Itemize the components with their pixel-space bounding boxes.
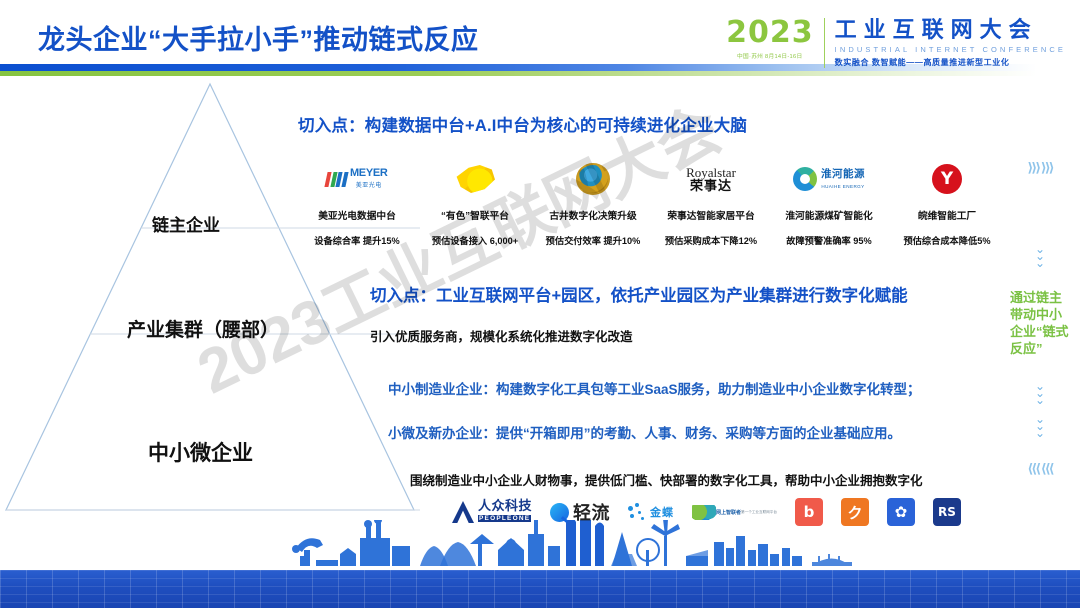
- huaihe-logo: 淮河能源HUAIHE ENERGY: [770, 158, 888, 200]
- company-cell-wanwei: 皖维智能工厂 预估综合成本降低5%: [888, 158, 1006, 247]
- company-cell-royalstar: Royalstar荣事达 荣事达智能家居平台 预估采购成本下降12%: [652, 158, 770, 247]
- skyline-graphic: [0, 520, 1080, 574]
- conference-tagline: 数实融合 数智赋能——高质量推进新型工业化: [835, 57, 1066, 68]
- peopleone-name-cn: 人众科技: [478, 498, 532, 513]
- kingdee-mark-icon: [628, 503, 646, 521]
- tier2-headline: 切入点：工业互联网平台+园区，依托产业园区为产业集群进行数字化赋能: [370, 282, 908, 306]
- company-cell-huaihe: 淮河能源HUAIHE ENERGY 淮河能源煤矿智能化 故障预警准确率 95%: [770, 158, 888, 247]
- company-kpi: 设备综合率 提升15%: [300, 233, 414, 247]
- chevron-down-icon-group-3: ⌄⌄⌄: [1006, 416, 1074, 437]
- right-note-text: 通过链主带动中小企业“链式反应”: [1006, 289, 1074, 357]
- meyer-logo: MEYER美亚光电: [298, 158, 416, 200]
- company-name: “有色”智联平台: [418, 207, 532, 222]
- qingliu-mark-icon: [550, 503, 569, 522]
- conference-date: 中国·苏州 8月14日-16日: [728, 51, 811, 60]
- conference-year-block: 2023 中国·苏州 8月14日-16日: [726, 18, 824, 60]
- peopleone-mark-icon: [452, 501, 474, 523]
- conference-name-cn: 工业互联网大会: [835, 18, 1066, 42]
- company-kpi: 预估综合成本降低5%: [890, 233, 1004, 247]
- wangshang-logo: 网上智联者 第一个工业互联网平台: [692, 505, 777, 520]
- company-cell-meyer: MEYER美亚光电 美亚光电数据中台 设备综合率 提升15%: [298, 158, 416, 247]
- conference-name-en: INDUSTRIAL INTERNET CONFERENCE: [835, 45, 1066, 54]
- company-kpi: 预估采购成本下降12%: [654, 233, 768, 247]
- chevron-down-icon-group-1: ⌄⌄⌄: [1006, 246, 1074, 267]
- company-cell-gujing: 古井数字化决策升级 预估交付效率 提升10%: [534, 158, 652, 247]
- tier2-subtext: 引入优质服务商，规模化系统化推进数字化改造: [370, 326, 908, 345]
- conference-logo: 2023 中国·苏州 8月14日-16日 工业互联网大会 INDUSTRIAL …: [726, 18, 1066, 68]
- square-navy-logo: RS: [933, 498, 961, 526]
- gujing-logo: [534, 158, 652, 200]
- company-cell-youse: “有色”智联平台 预估设备接入 6,000+: [416, 158, 534, 247]
- partner-logo-strip: 人众科技 PEOPLEONE 轻流 金蝶 网上智联者 第一个工业互联网平台 b …: [452, 498, 961, 526]
- peopleone-name-en: PEOPLEONE: [478, 515, 531, 522]
- square-blue-logo: ✿: [887, 498, 915, 526]
- tier1-company-row: MEYER美亚光电 美亚光电数据中台 设备综合率 提升15% “有色”智联平台 …: [298, 158, 1010, 247]
- conference-name-block: 工业互联网大会 INDUSTRIAL INTERNET CONFERENCE 数…: [835, 18, 1066, 68]
- company-kpi: 预估交付效率 提升10%: [536, 233, 650, 247]
- qingliu-name-cn: 轻流: [573, 499, 610, 525]
- tier3-footnote: 围绕制造业中小企业人财物事，提供低门槛、快部署的数字化工具，帮助中小企业拥抱数字…: [410, 470, 923, 489]
- tier3-line-manufacturing: 中小制造业企业：构建数字化工具包等工业SaaS服务，助力制造业中小企业数字化转型…: [388, 378, 923, 398]
- right-arrows-bottom: ⟨⟨⟨ ⟨⟨⟨: [1006, 461, 1074, 477]
- right-arrows-top: ⟩⟩⟩ ⟩⟩⟩: [1006, 160, 1074, 176]
- tier3-section: 中小制造业企业：构建数字化工具包等工业SaaS服务，助力制造业中小企业数字化转型…: [388, 378, 923, 489]
- royalstar-logo: Royalstar荣事达: [652, 158, 770, 200]
- footer-grid-overlay: [0, 570, 1080, 608]
- square-red-logo: b: [795, 498, 823, 526]
- chevron-down-icon-group-2: ⌄⌄⌄: [1006, 383, 1074, 404]
- company-name: 荣事达智能家居平台: [654, 207, 768, 222]
- square-orange-logo: ク: [841, 498, 869, 526]
- company-name: 古井数字化决策升级: [536, 207, 650, 222]
- company-kpi: 故障预警准确率 95%: [772, 233, 886, 247]
- slide-footer: [0, 520, 1080, 608]
- youse-logo: [416, 158, 534, 200]
- tier1-headline: 切入点：构建数据中台+A.I中台为核心的可持续进化企业大脑: [298, 112, 1010, 136]
- tier3-line-micro: 小微及新办企业：提供“开箱即用”的考勤、人事、财务、采购等方面的企业基础应用。: [388, 422, 923, 442]
- wangshang-name-cn: 网上智联者: [716, 509, 741, 516]
- company-name: 美亚光电数据中台: [300, 207, 414, 222]
- wangshang-name-sub: 第一个工业互联网平台: [741, 510, 777, 515]
- qingliu-logo: 轻流: [550, 499, 610, 525]
- company-kpi: 预估设备接入 6,000+: [418, 233, 532, 247]
- right-annotation-column: ⟩⟩⟩ ⟩⟩⟩ ⌄⌄⌄ 通过链主带动中小企业“链式反应” ⌄⌄⌄ ⌄⌄⌄ ⟨⟨⟨…: [1006, 160, 1074, 477]
- tier1-section: 切入点：构建数据中台+A.I中台为核心的可持续进化企业大脑 MEYER美亚光电 …: [298, 112, 1010, 247]
- company-name: 淮河能源煤矿智能化: [772, 207, 886, 222]
- conference-divider: [824, 18, 825, 68]
- title-rule-green: [0, 71, 1080, 76]
- slide-header: 龙头企业“大手拉小手”推动链式反应 2023 中国·苏州 8月14日-16日 工…: [0, 0, 1080, 80]
- wanwei-logo: [888, 158, 1006, 200]
- wangshang-mark-icon: [692, 505, 716, 520]
- company-name: 皖维智能工厂: [890, 207, 1004, 222]
- pyramid-tier-label-cluster: 产业集群（腰部）: [127, 315, 279, 342]
- page-title: 龙头企业“大手拉小手”推动链式反应: [38, 18, 479, 57]
- peopleone-logo: 人众科技 PEOPLEONE: [452, 501, 532, 524]
- pyramid-tier-label-sme: 中小微企业: [148, 437, 253, 467]
- tier2-section: 切入点：工业互联网平台+园区，依托产业园区为产业集群进行数字化赋能 引入优质服务…: [370, 282, 908, 345]
- conference-year: 2023: [726, 18, 814, 48]
- kingdee-name-cn: 金蝶: [650, 504, 674, 520]
- pyramid-tier-label-chain-leader: 链主企业: [152, 211, 220, 236]
- kingdee-logo: 金蝶: [628, 503, 674, 521]
